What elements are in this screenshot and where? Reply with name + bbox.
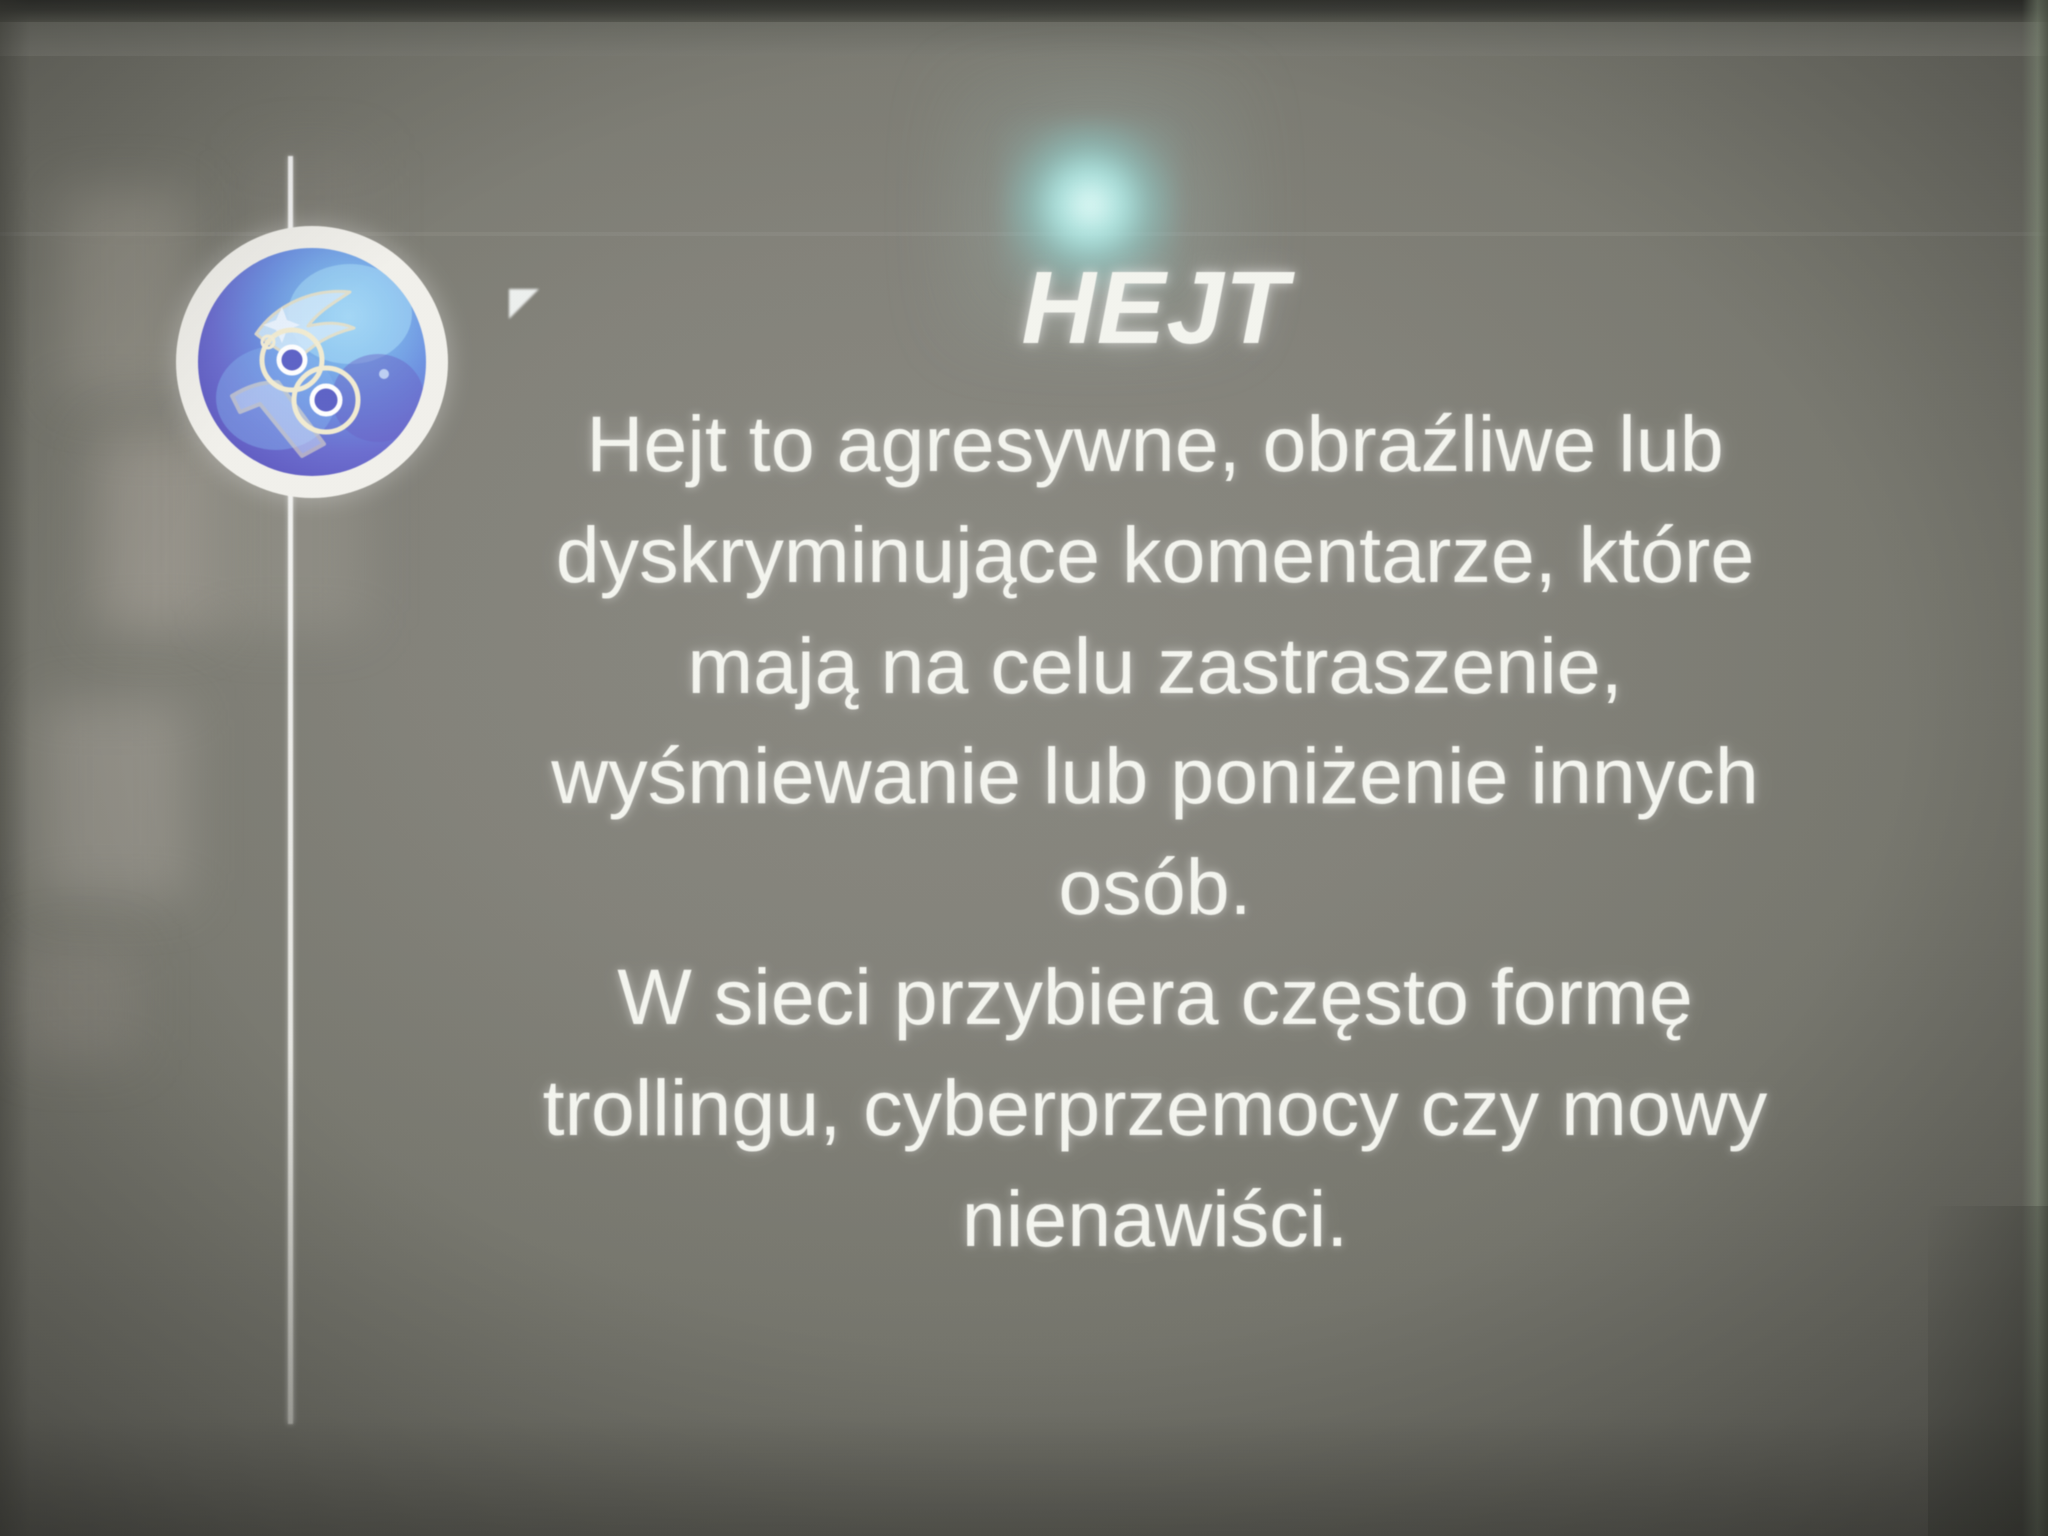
body-line: W sieci przybiera często formę — [330, 942, 1980, 1053]
slide-title: HEJT — [330, 250, 1980, 365]
slide-content: HEJT Hejt to agresywne, obraźliwe lub dy… — [0, 0, 2048, 1536]
body-line: nienawiści. — [330, 1164, 1980, 1275]
slide-photograph: HEJT Hejt to agresywne, obraźliwe lub dy… — [0, 0, 2048, 1536]
body-line: trollingu, cyberprzemocy czy mowy — [330, 1053, 1980, 1164]
body-line: osób. — [330, 832, 1980, 943]
body-line: Hejt to agresywne, obraźliwe lub — [330, 389, 1980, 500]
slide-text-column: HEJT Hejt to agresywne, obraźliwe lub dy… — [330, 250, 1980, 1274]
body-line: wyśmiewanie lub poniżenie innych — [330, 721, 1980, 832]
body-line: dyskryminujące komentarze, które — [330, 500, 1980, 611]
body-line: mają na celu zastraszenie, — [330, 611, 1980, 722]
slide-body: Hejt to agresywne, obraźliwe lub dyskrym… — [330, 389, 1980, 1274]
